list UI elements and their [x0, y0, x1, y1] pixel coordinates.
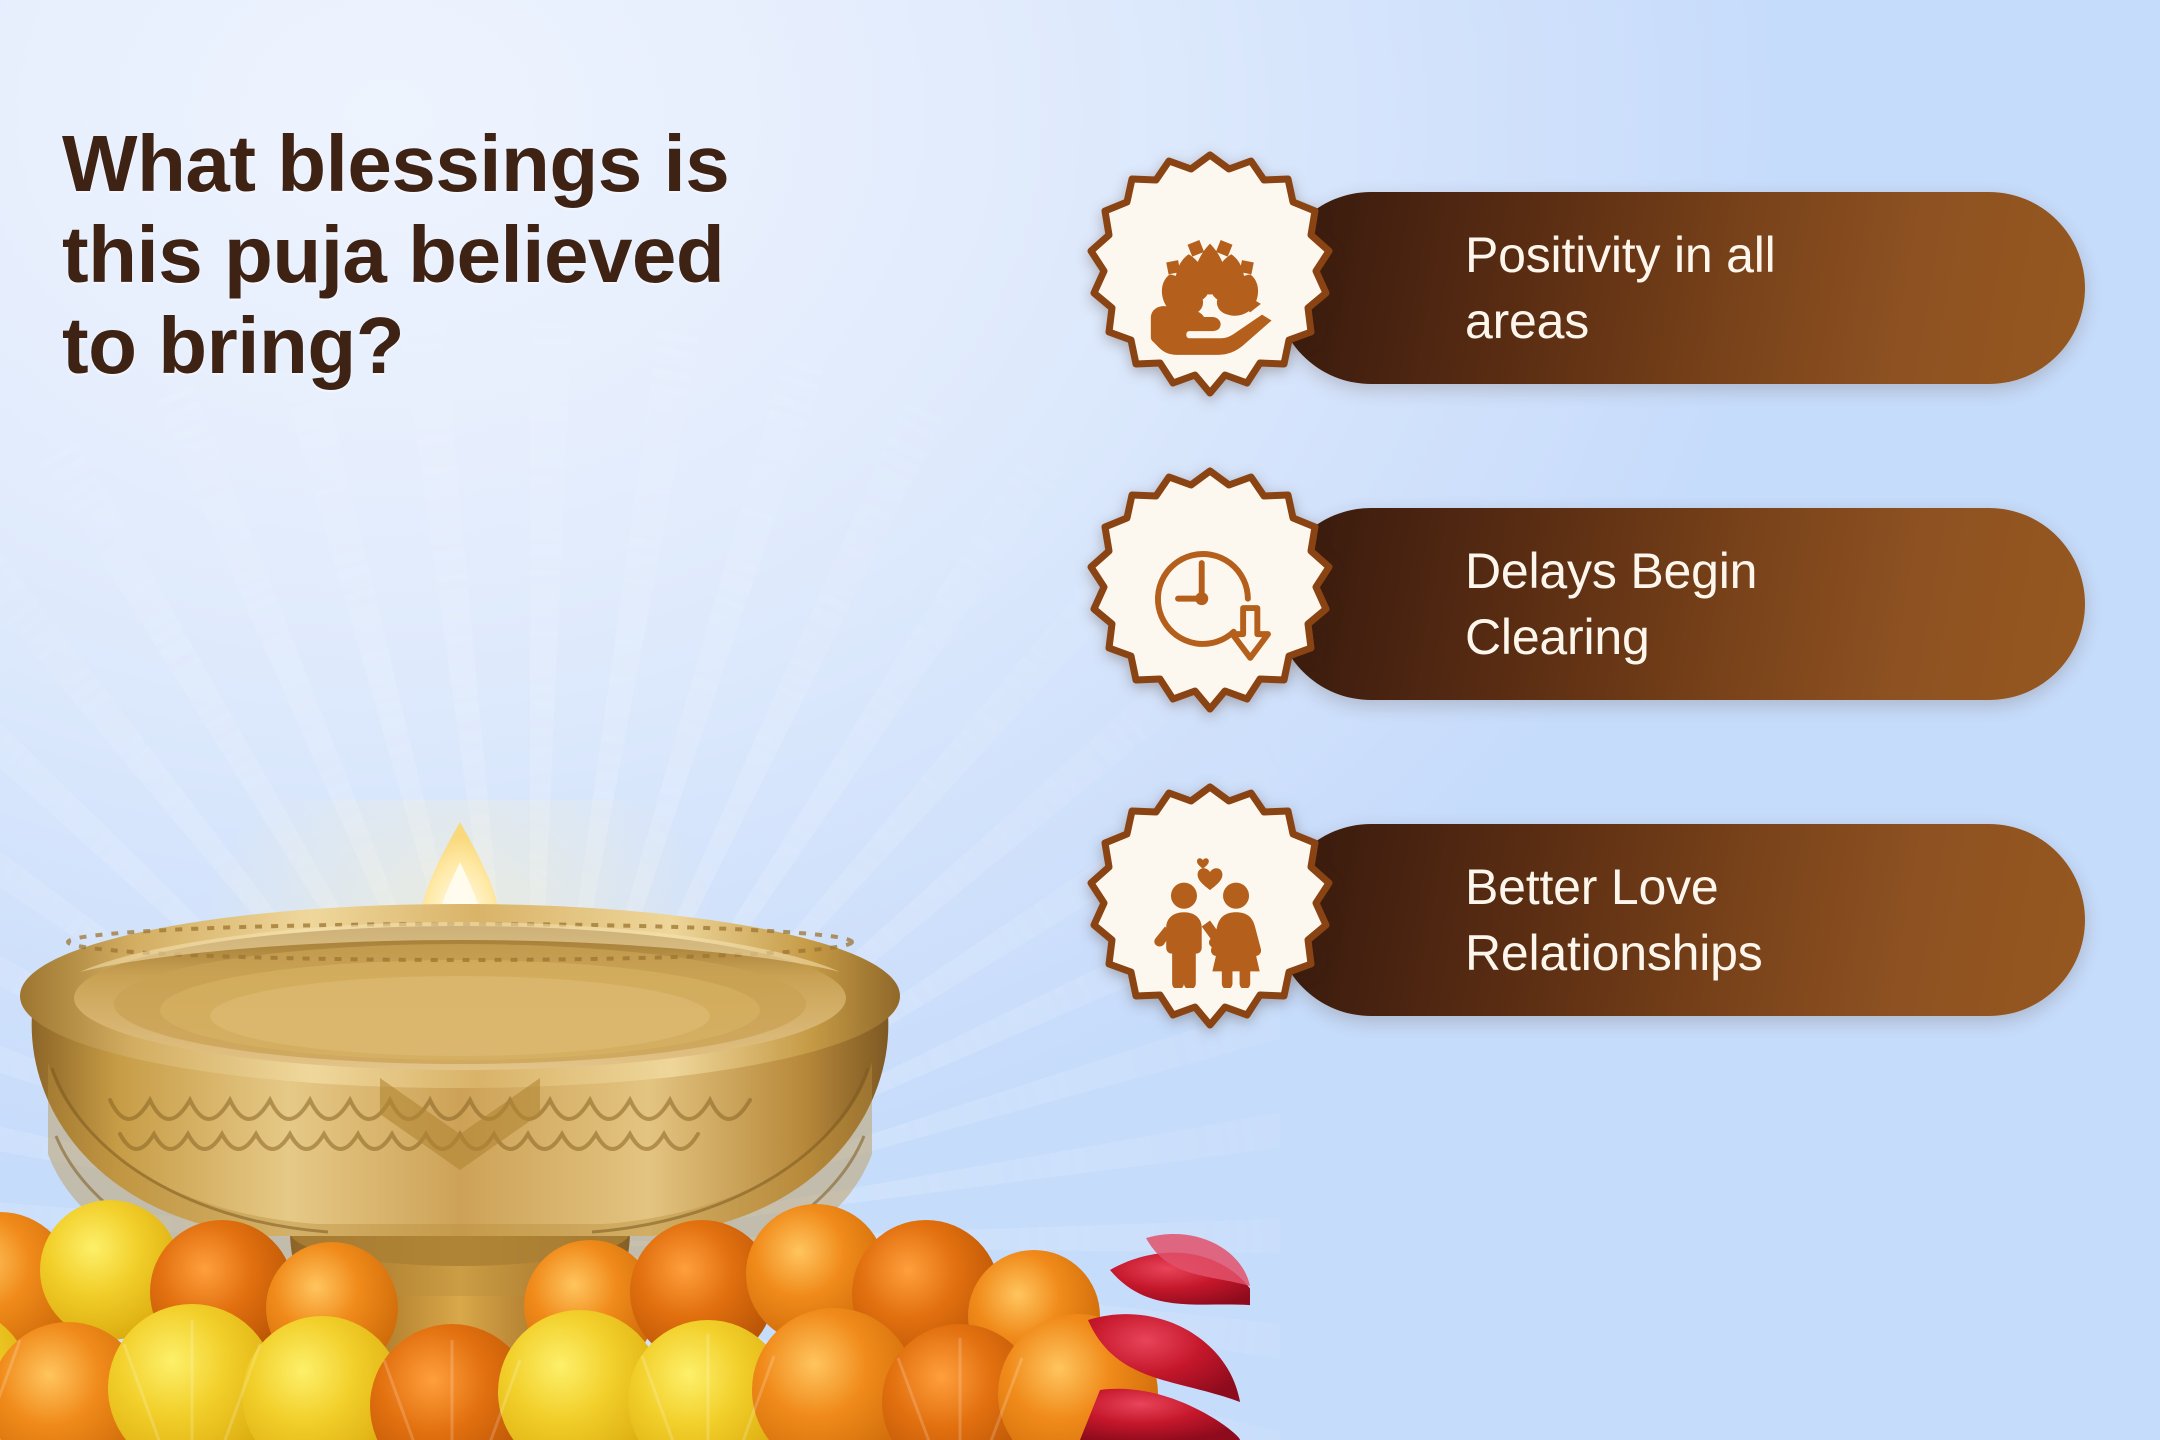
blessings-list: Positivity in all areas — [1075, 150, 2085, 1040]
blessing-row-positivity[interactable]: Positivity in all areas — [1075, 150, 2085, 408]
marigold-row-front — [0, 1304, 1158, 1440]
headline-line-1: What blessings is — [62, 118, 1062, 209]
blessing-label-line-1: Positivity in all — [1465, 227, 1776, 283]
blessing-badge — [1075, 150, 1345, 420]
rose-petals — [1080, 1234, 1250, 1440]
diya-lamp-with-marigolds-decoration — [0, 800, 1250, 1440]
blessing-pill[interactable]: Delays Begin Clearing — [1275, 508, 2085, 700]
lotus-in-hand-icon — [1139, 214, 1281, 356]
blessing-label: Better Love Relationships — [1275, 854, 1821, 986]
blessing-label-line-1: Delays Begin — [1465, 543, 1757, 599]
blessing-label: Positivity in all areas — [1275, 222, 1834, 354]
blessing-badge — [1075, 466, 1345, 736]
blessing-row-delays[interactable]: Delays Begin Clearing — [1075, 466, 2085, 724]
blessing-badge — [1075, 782, 1345, 1052]
blessing-label-line-1: Better Love — [1465, 859, 1719, 915]
headline-line-2: this puja believed — [62, 209, 1062, 300]
blessing-pill[interactable]: Better Love Relationships — [1275, 824, 2085, 1016]
marigold-row-back — [0, 1200, 1100, 1382]
blessing-label-line-2: areas — [1465, 293, 1589, 349]
headline-line-3: to bring? — [62, 300, 1062, 391]
page-title: What blessings is this puja believed to … — [62, 118, 1062, 392]
blessing-label-line-2: Relationships — [1465, 925, 1763, 981]
couple-with-heart-icon — [1139, 846, 1281, 988]
poster-canvas: What blessings is this puja believed to … — [0, 0, 2160, 1440]
clock-with-down-arrow-icon — [1139, 530, 1281, 672]
blessing-pill[interactable]: Positivity in all areas — [1275, 192, 2085, 384]
blessing-label-line-2: Clearing — [1465, 609, 1650, 665]
blessing-label: Delays Begin Clearing — [1275, 538, 1815, 670]
blessing-row-relationships[interactable]: Better Love Relationships — [1075, 782, 2085, 1040]
